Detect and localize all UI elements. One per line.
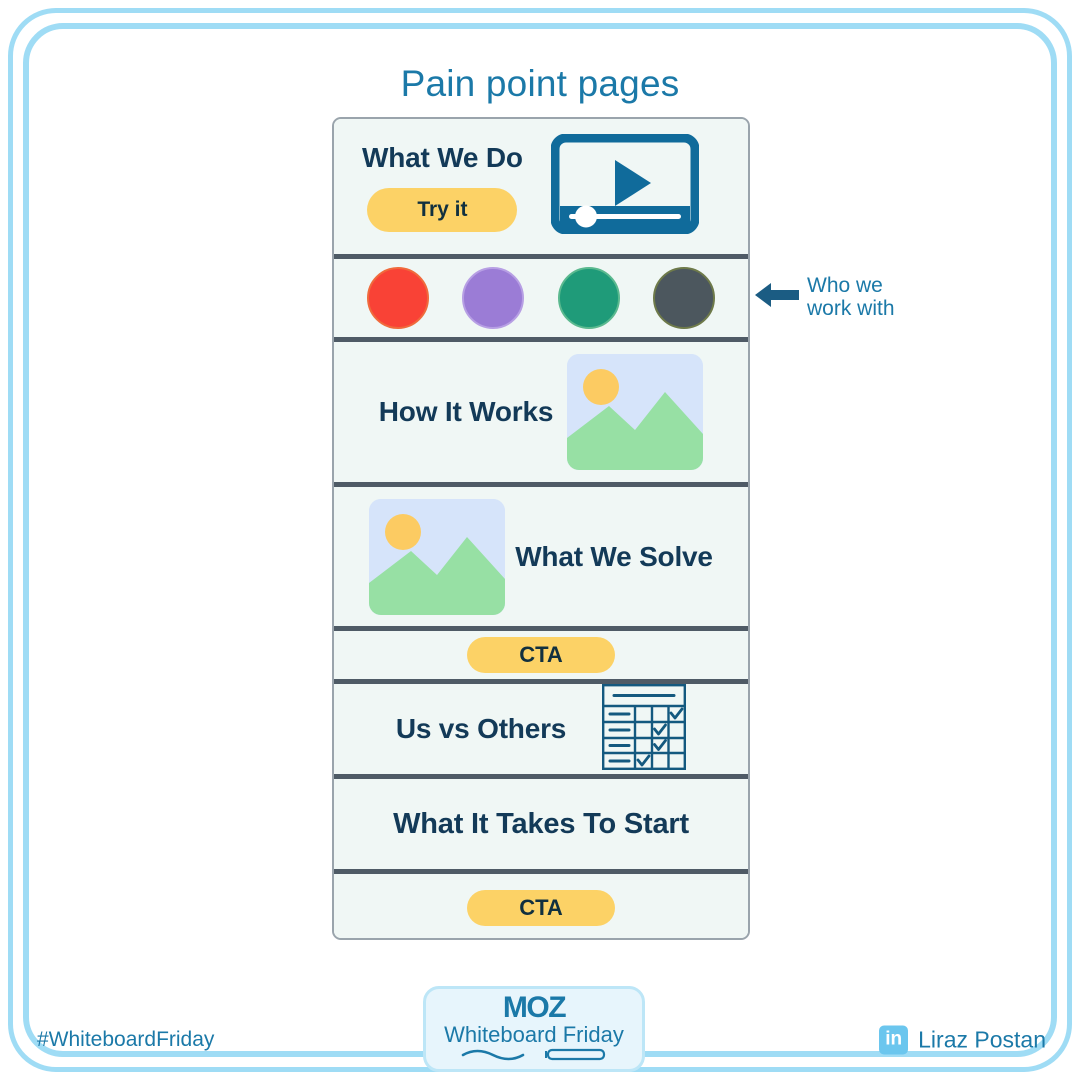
section-what-we-solve: What We Solve xyxy=(334,487,748,631)
comparison-table-icon xyxy=(602,684,686,775)
moz-whiteboard-friday-badge: MOZ Whiteboard Friday xyxy=(423,986,645,1072)
section-what-we-do: What We Do Try it xyxy=(334,119,748,259)
section-what-it-takes: What It Takes To Start xyxy=(334,779,748,874)
author-name: Liraz Postan xyxy=(918,1027,1046,1054)
cta-button-mid[interactable]: CTA xyxy=(467,637,615,673)
page-title: Pain point pages xyxy=(0,63,1080,105)
linkedin-icon[interactable]: in xyxy=(879,1026,908,1055)
section-cta-mid: CTA xyxy=(334,631,748,684)
section-cta-bottom: CTA xyxy=(334,874,748,940)
arrow-left-icon xyxy=(755,281,799,314)
section-client-logos xyxy=(334,259,748,342)
try-it-button[interactable]: Try it xyxy=(367,188,517,232)
section-heading-what-we-solve: What We Solve xyxy=(515,541,713,573)
section-heading-how-it-works: How It Works xyxy=(379,396,553,428)
cta-button-bottom[interactable]: CTA xyxy=(467,890,615,926)
annotation-label: Who we work with xyxy=(807,275,895,320)
section-us-vs-others: Us vs Others xyxy=(334,684,748,779)
moz-logo: MOZ xyxy=(503,993,565,1023)
section-heading-what-we-do: What We Do xyxy=(362,142,523,174)
annotation-who-we-work-with: Who we work with xyxy=(755,275,895,320)
section-heading-what-it-takes: What It Takes To Start xyxy=(393,808,689,841)
hero-left-block: What We Do Try it xyxy=(362,142,523,232)
whiteboard-friday-tagline: Whiteboard Friday xyxy=(444,1024,624,1046)
section-heading-us-vs-others: Us vs Others xyxy=(396,713,566,745)
page-mockup: What We Do Try it How It Works xyxy=(332,117,750,940)
author-byline: in Liraz Postan xyxy=(879,1026,1046,1055)
marker-squiggle-icon xyxy=(459,1047,609,1066)
image-placeholder-icon xyxy=(369,499,505,615)
image-placeholder-icon xyxy=(567,354,703,470)
video-player-icon xyxy=(551,134,699,239)
dot-purple xyxy=(462,267,524,329)
dot-teal xyxy=(558,267,620,329)
hashtag-label: #WhiteboardFriday xyxy=(37,1028,214,1052)
dot-red xyxy=(367,267,429,329)
section-how-it-works: How It Works xyxy=(334,342,748,487)
dot-gray xyxy=(653,267,715,329)
